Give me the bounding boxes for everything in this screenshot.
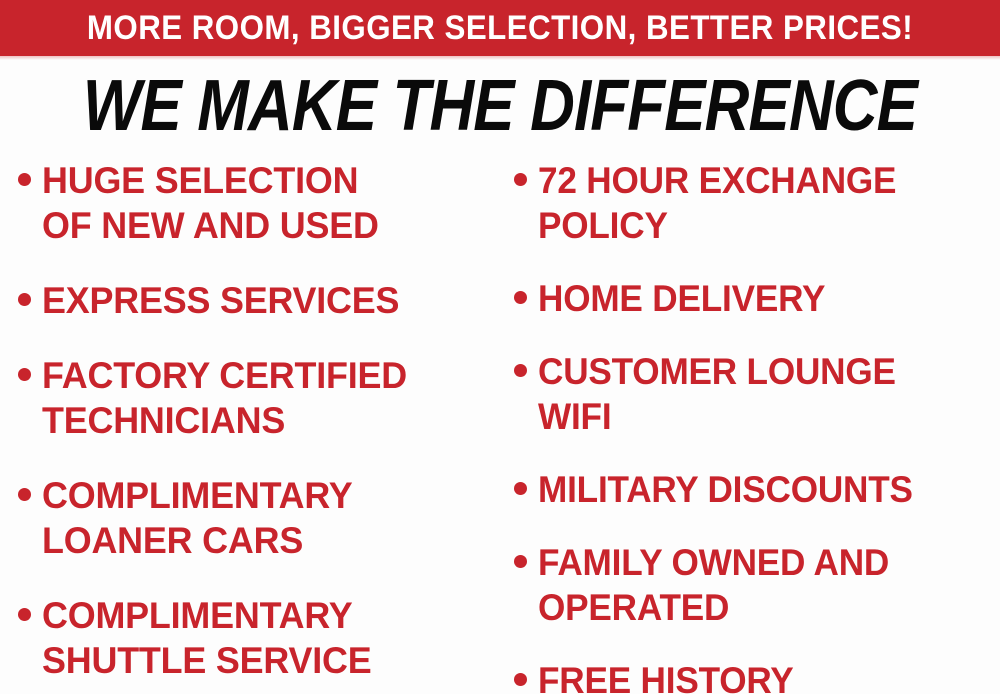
list-item: 72 HOUR EXCHANGE POLICY [514,158,1000,248]
list-item: FAMILY OWNED AND OPERATED [514,540,1000,630]
list-item: FACTORY CERTIFIED TECHNICIANS [18,353,496,443]
bullet-dot-icon [514,482,527,495]
bullet-dot-icon [514,364,527,377]
list-item-label: MILITARY DISCOUNTS [538,467,977,512]
list-item: HOME DELIVERY [514,276,1000,321]
list-item-label: 72 HOUR EXCHANGE POLICY [538,158,977,248]
list-item-label: FREE HISTORY REPORTS [538,658,977,694]
list-item-label: COMPLIMENTARY SHUTTLE SERVICE [42,593,482,683]
headline: WE MAKE THE DIFFERENCE [0,70,1000,142]
bullet-dot-icon [514,173,527,186]
bullet-dot-icon [18,488,31,501]
list-item: HUGE SELECTION OF NEW AND USED [18,158,496,248]
list-item-label: HOME DELIVERY [538,276,977,321]
list-item-label: CUSTOMER LOUNGE WIFI [538,349,977,439]
headline-text: WE MAKE THE DIFFERENCE [83,70,917,142]
list-item-label: COMPLIMENTARY LOANER CARS [42,473,482,563]
list-item: COMPLIMENTARY LOANER CARS [18,473,496,563]
features-column-left: HUGE SELECTION OF NEW AND USED EXPRESS S… [0,158,500,694]
banner-drop-shadow [0,56,1000,60]
features-column-right: 72 HOUR EXCHANGE POLICY HOME DELIVERY CU… [500,158,1000,694]
top-banner: MORE ROOM, BIGGER SELECTION, BETTER PRIC… [0,0,1000,56]
bullet-dot-icon [18,368,31,381]
list-item-label: FAMILY OWNED AND OPERATED [538,540,977,630]
bullet-dot-icon [514,555,527,568]
list-item: COMPLIMENTARY SHUTTLE SERVICE [18,593,496,683]
list-item-label: EXPRESS SERVICES [42,278,482,323]
list-item: CUSTOMER LOUNGE WIFI [514,349,1000,439]
top-banner-text: MORE ROOM, BIGGER SELECTION, BETTER PRIC… [87,11,913,45]
bullet-dot-icon [514,673,527,686]
features-columns: HUGE SELECTION OF NEW AND USED EXPRESS S… [0,158,1000,694]
list-item: FREE HISTORY REPORTS [514,658,1000,694]
bullet-dot-icon [514,291,527,304]
advertisement-poster: MORE ROOM, BIGGER SELECTION, BETTER PRIC… [0,0,1000,694]
list-item: EXPRESS SERVICES [18,278,496,323]
bullet-dot-icon [18,608,31,621]
list-item: MILITARY DISCOUNTS [514,467,1000,512]
bullet-dot-icon [18,293,31,306]
list-item-label: FACTORY CERTIFIED TECHNICIANS [42,353,482,443]
list-item-label: HUGE SELECTION OF NEW AND USED [42,158,482,248]
bullet-dot-icon [18,173,31,186]
